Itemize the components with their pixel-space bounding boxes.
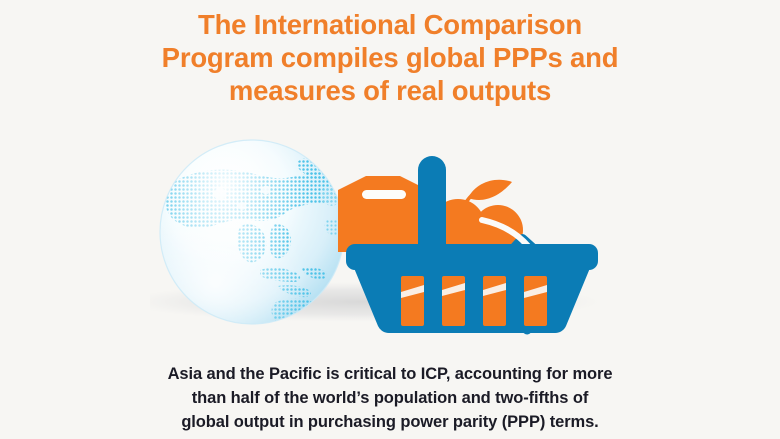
infographic-slide: The International Comparison Program com… <box>0 0 780 439</box>
carton-handle-slot <box>362 190 406 199</box>
caption-line-2: than half of the world’s population and … <box>90 386 690 410</box>
caption-line-1: Asia and the Pacific is critical to ICP,… <box>90 362 690 386</box>
caption: Asia and the Pacific is critical to ICP,… <box>90 362 690 434</box>
title-line-2: Program compiles global PPPs and <box>90 41 690 74</box>
shopping-basket-icon <box>346 244 598 333</box>
title-line-3: measures of real outputs <box>90 74 690 107</box>
leaf <box>468 180 512 200</box>
illustration: $ <box>150 120 630 360</box>
page-title: The International Comparison Program com… <box>90 8 690 107</box>
caption-line-3: global output in purchasing power parity… <box>90 410 690 434</box>
title-line-1: The International Comparison <box>90 8 690 41</box>
grocery-carton <box>338 176 428 252</box>
